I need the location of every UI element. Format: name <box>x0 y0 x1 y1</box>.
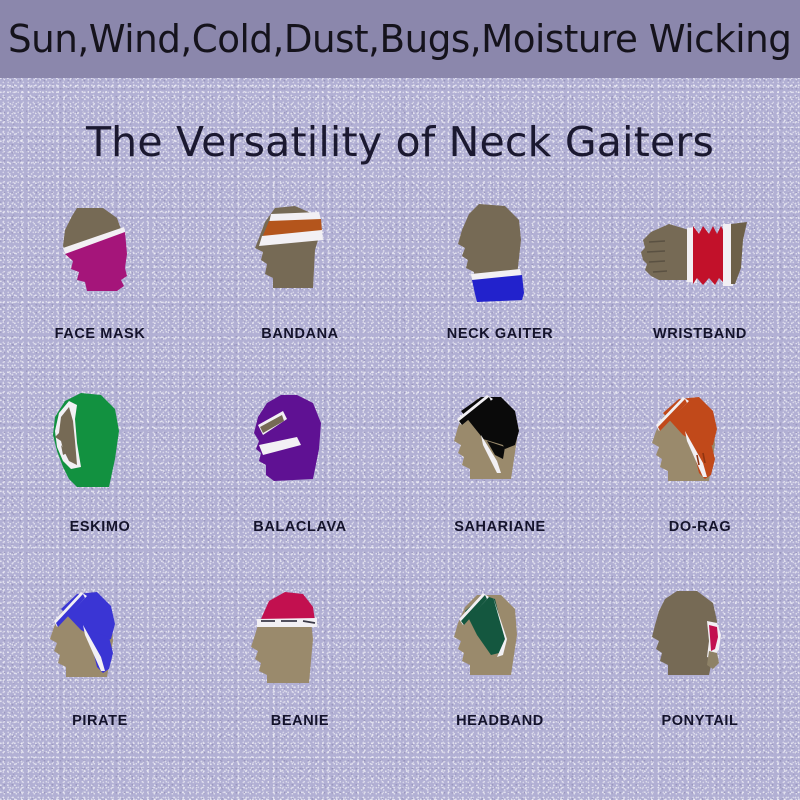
grid-item-label: BANDANA <box>261 326 339 342</box>
grid-item-label: PONYTAIL <box>661 713 738 729</box>
grid-item-label: DO-RAG <box>669 519 731 535</box>
grid-item-label: PIRATE <box>72 713 128 729</box>
eskimo-icon <box>25 383 175 513</box>
grid-item-sahariane[interactable]: SAHARIANE <box>400 383 600 576</box>
grid-item-label: SAHARIANE <box>454 519 546 535</box>
grid-item-do-rag[interactable]: DO-RAG <box>600 383 800 576</box>
grid-item-label: FACE MASK <box>55 326 146 342</box>
do-rag-icon <box>625 383 775 513</box>
pirate-icon <box>25 577 175 707</box>
grid-item-label: BEANIE <box>271 713 329 729</box>
neck-gaiter-icon <box>425 190 575 320</box>
page-title: The Versatility of Neck Gaiters <box>0 118 800 166</box>
ponytail-icon <box>625 577 775 707</box>
grid-item-face-mask[interactable]: FACE MASK <box>0 190 200 383</box>
grid-item-pirate[interactable]: PIRATE <box>0 577 200 770</box>
grid-item-label: BALACLAVA <box>253 519 346 535</box>
wristband-icon <box>625 190 775 320</box>
bandana-icon <box>225 190 375 320</box>
grid-item-headband[interactable]: HEADBAND <box>400 577 600 770</box>
grid-item-balaclava[interactable]: BALACLAVA <box>200 383 400 576</box>
header-banner: Sun,Wind,Cold,Dust,Bugs,Moisture Wicking <box>0 0 800 78</box>
grid-item-ponytail[interactable]: PONYTAIL <box>600 577 800 770</box>
balaclava-icon <box>225 383 375 513</box>
grid-item-label: ESKIMO <box>70 519 131 535</box>
sahariane-icon <box>425 383 575 513</box>
face-mask-icon <box>25 190 175 320</box>
grid-item-label: WRISTBAND <box>653 326 747 342</box>
grid-item-neck-gaiter[interactable]: NECK GAITER <box>400 190 600 383</box>
grid-item-bandana[interactable]: BANDANA <box>200 190 400 383</box>
headband-icon <box>425 577 575 707</box>
grid-item-label: NECK GAITER <box>447 326 554 342</box>
grid-item-beanie[interactable]: BEANIE <box>200 577 400 770</box>
grid-item-eskimo[interactable]: ESKIMO <box>0 383 200 576</box>
header-banner-text: Sun,Wind,Cold,Dust,Bugs,Moisture Wicking <box>8 17 791 61</box>
grid-item-wristband[interactable]: WRISTBAND <box>600 190 800 383</box>
gaiter-style-grid: FACE MASK BANDANA NECK GAITER <box>0 190 800 770</box>
beanie-icon <box>225 577 375 707</box>
grid-item-label: HEADBAND <box>456 713 544 729</box>
infographic-poster: Sun,Wind,Cold,Dust,Bugs,Moisture Wicking… <box>0 0 800 800</box>
